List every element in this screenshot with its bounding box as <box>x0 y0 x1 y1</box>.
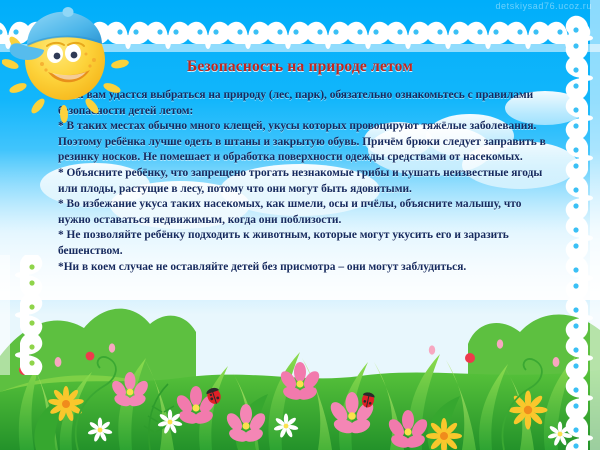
paragraph-animals: * Не позволяйте ребёнку подходить к живо… <box>58 228 546 259</box>
meadow-scene <box>0 300 600 450</box>
paragraph-mushrooms: * Объясните ребёнку, что запрещено трога… <box>58 166 546 197</box>
site-watermark: detskiysad76.ucoz.ru <box>495 1 592 11</box>
paragraph-insects: * Во избежание укуса таких насекомых, ка… <box>58 197 546 228</box>
paragraph-supervision: *Ни в коем случае не оставляйте детей бе… <box>58 260 546 276</box>
poster: Безопасность на природе летом Если вам у… <box>0 0 600 450</box>
smiling-sun-icon <box>2 2 134 130</box>
